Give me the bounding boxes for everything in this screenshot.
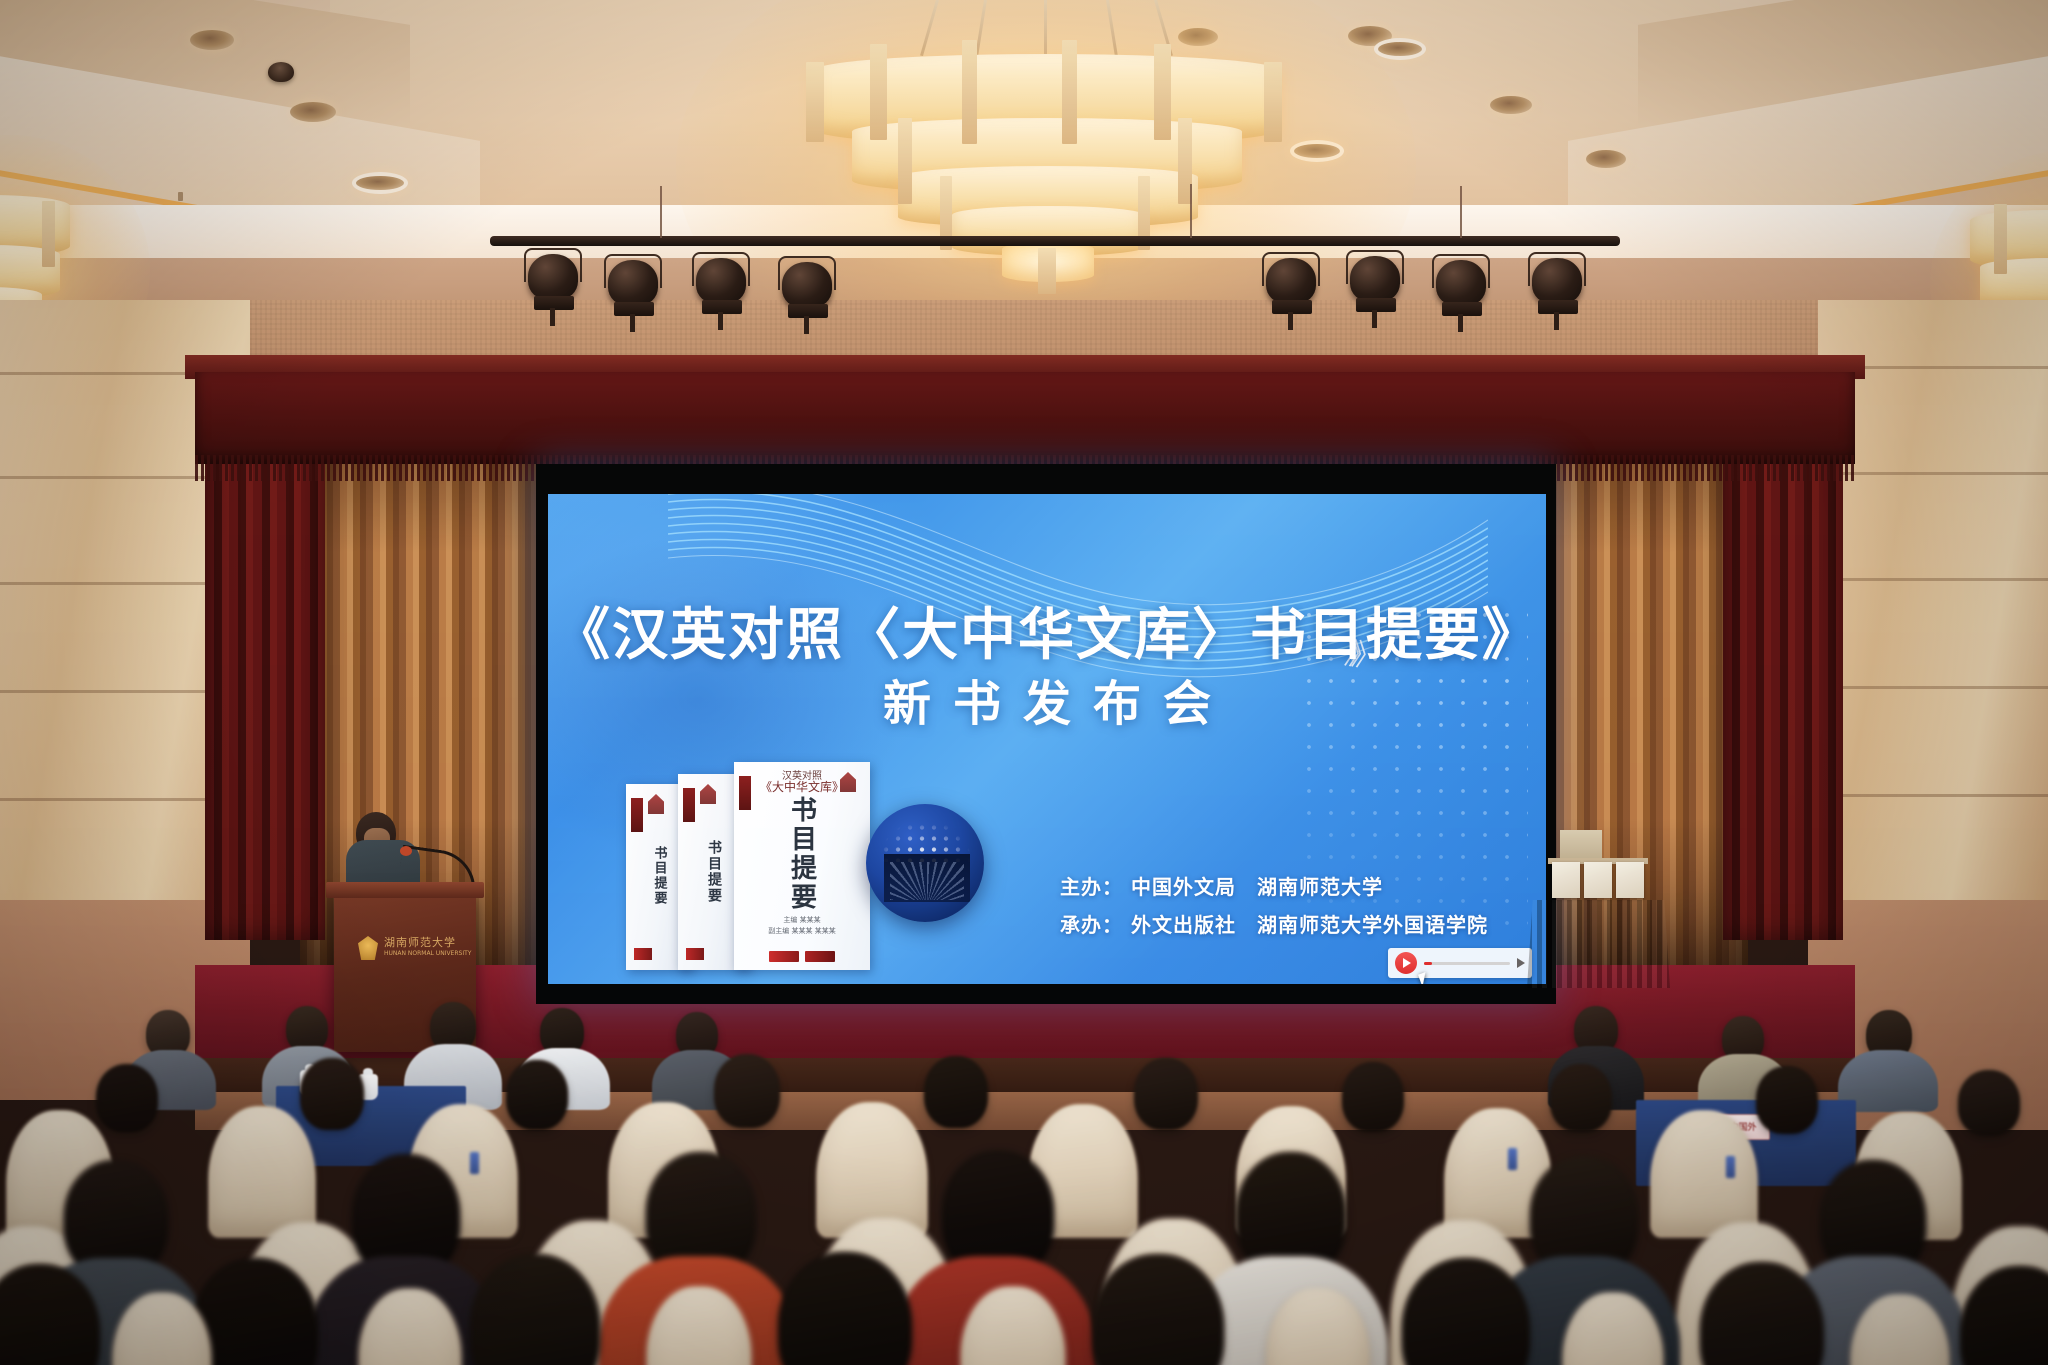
chair xyxy=(1266,1288,1370,1365)
audience-closest-row xyxy=(0,1240,2048,1365)
downlight-icon xyxy=(352,172,408,194)
downlight-icon xyxy=(1490,96,1532,114)
chandelier-slat xyxy=(870,44,887,140)
audience-head xyxy=(506,1060,568,1130)
audience-head xyxy=(778,1252,912,1365)
audience-head xyxy=(1958,1070,2020,1136)
volume-icon[interactable] xyxy=(1517,958,1525,968)
downlight-icon xyxy=(1374,38,1426,60)
downlight-icon xyxy=(290,102,336,122)
audience-head xyxy=(1756,1066,1818,1134)
truss-hanging-cable xyxy=(660,186,662,238)
audience-head xyxy=(1700,1262,1824,1365)
stage-light-icon xyxy=(602,250,664,320)
book-main-title: 书目提要 xyxy=(784,796,821,912)
chair xyxy=(646,1286,752,1365)
audience-head xyxy=(924,1056,988,1128)
display-book xyxy=(1584,862,1612,898)
book-spine-title: 书目提要 xyxy=(650,846,669,906)
audience-head xyxy=(1342,1062,1404,1132)
audience-head xyxy=(1092,1254,1224,1365)
stage-light-icon xyxy=(1344,246,1406,316)
chandelier-slat xyxy=(806,62,824,142)
chandelier-slat xyxy=(1264,62,1282,142)
audience-head xyxy=(1402,1258,1530,1365)
valance xyxy=(195,372,1855,464)
chandelier-slat xyxy=(1062,40,1077,144)
podium-text: 湖南师范大学 HUNAN NORMAL UNIVERSITY xyxy=(384,936,471,957)
audience-head xyxy=(1960,1266,2048,1365)
audience-head xyxy=(300,1058,364,1130)
book-spine-title: 书目提要 xyxy=(704,840,724,904)
organizer-block: 主办： 中国外文局 湖南师范大学 承办： 外文出版社 湖南师范大学外国语学院 xyxy=(1060,868,1488,944)
stage-light-icon xyxy=(522,244,584,314)
book-collection-text: 《大中华文库》 xyxy=(760,778,844,795)
stage-light-icon xyxy=(1430,250,1492,320)
conference-hall-photo: 》》 《汉英对照〈大中华文库〉书目提要》 新书发布会 书目提要 书目提要 汉英对… xyxy=(0,0,2048,1365)
chair xyxy=(1850,1294,1950,1365)
screen-subtitle: 新书发布会 xyxy=(548,664,1546,734)
stage-light-icon xyxy=(1526,248,1588,318)
sprinkler-icon xyxy=(178,192,183,201)
display-table xyxy=(1527,900,1670,988)
display-book xyxy=(1552,862,1580,898)
publisher-logos xyxy=(769,951,835,962)
audience-head xyxy=(96,1064,158,1132)
play-icon[interactable] xyxy=(1395,952,1417,974)
blue-globe-graphic xyxy=(866,804,984,922)
chandelier-cable xyxy=(1106,0,1118,56)
chandelier-slat xyxy=(1154,44,1171,140)
mouse-cursor-icon xyxy=(1418,972,1430,984)
video-player-controls[interactable] xyxy=(1388,948,1532,978)
seek-bar[interactable] xyxy=(1424,962,1510,965)
chandelier-slat xyxy=(962,40,977,144)
truss-hanging-cable xyxy=(1460,186,1462,238)
led-screen[interactable]: 》》 《汉英对照〈大中华文库〉书目提要》 新书发布会 书目提要 书目提要 汉英对… xyxy=(548,494,1546,984)
university-crest-icon xyxy=(358,936,378,960)
book-cover-front: 汉英对照 《大中华文库》 《大中华文库》 书目提要 主编 某某某 副主编 某某某… xyxy=(734,762,870,970)
stage-light-icon xyxy=(1260,248,1322,318)
audience-head xyxy=(1550,1064,1612,1132)
chandelier-slat xyxy=(1994,204,2007,274)
organizer-line-coorganizer: 承办： 外文出版社 湖南师范大学外国语学院 xyxy=(1060,906,1488,944)
microphone-icon xyxy=(400,846,412,856)
chandelier-slat xyxy=(1038,248,1056,294)
downlight-icon xyxy=(190,30,234,50)
chandelier-cable xyxy=(920,0,939,56)
chair xyxy=(358,1288,462,1365)
audience-head xyxy=(0,1264,100,1365)
chandelier-cable xyxy=(975,0,987,56)
chair xyxy=(1562,1292,1664,1365)
chandelier-slat xyxy=(898,118,912,204)
audience-head xyxy=(714,1054,780,1128)
screen-title: 《汉英对照〈大中华文库〉书目提要》 xyxy=(548,590,1546,671)
stage-light-icon xyxy=(776,252,838,322)
dome-security-camera-icon xyxy=(268,62,294,82)
organizer-line-host: 主办： 中国外文局 湖南师范大学 xyxy=(1060,868,1488,906)
downlight-icon xyxy=(1586,150,1626,168)
audience-head xyxy=(470,1254,600,1365)
chair xyxy=(960,1286,1066,1365)
main-chandelier xyxy=(766,0,1326,300)
audience-head xyxy=(1134,1058,1198,1130)
truss-hanging-cable xyxy=(1190,184,1192,238)
stage-light-icon xyxy=(690,248,752,318)
podium-top xyxy=(326,882,484,898)
display-book xyxy=(1616,862,1644,898)
book-editor-line: 主编 某某某 副主编 某某某 某某某 xyxy=(768,915,835,936)
chandelier-slat xyxy=(42,201,55,267)
